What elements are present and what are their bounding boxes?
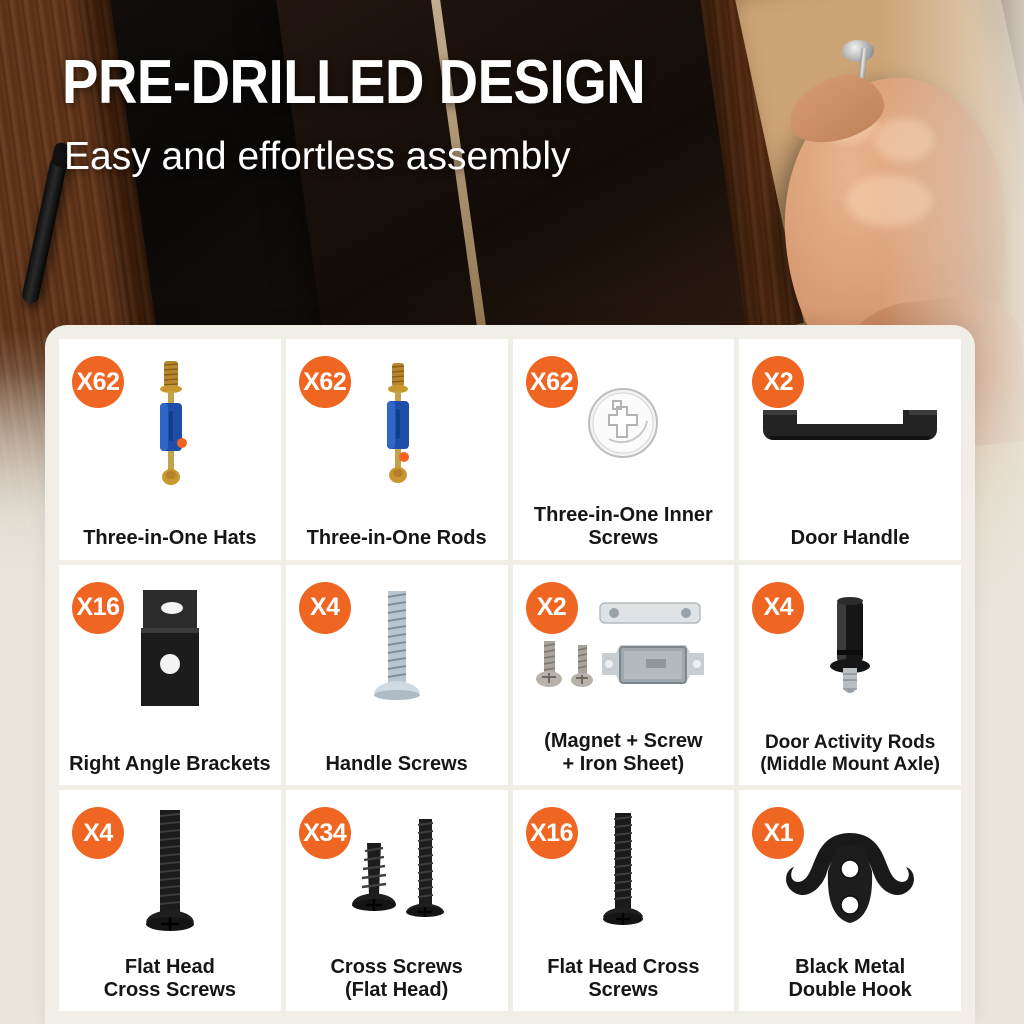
magnet-body <box>602 645 704 683</box>
part-cell[interactable]: X62 Three-in-One Inner Screws <box>513 339 735 560</box>
part-cell[interactable]: X4 <box>286 565 508 786</box>
parts-list-card: X62 <box>45 325 975 1024</box>
part-label: Flat Head Cross Screws <box>513 956 735 1011</box>
part-label: Three-in-One Rods <box>286 527 508 559</box>
quantity-badge: X4 <box>72 807 124 859</box>
part-cell[interactable]: X62 <box>59 339 281 560</box>
part-label: Cross Screws (Flat Head) <box>286 956 508 1011</box>
part-cell[interactable]: X16 Right Angle Brackets <box>59 565 281 786</box>
quantity-badge: X16 <box>526 807 578 859</box>
part-cell[interactable]: X2 <box>513 565 735 786</box>
part-label: Black Metal Double Hook <box>739 956 961 1011</box>
part-cell[interactable]: X34 <box>286 790 508 1011</box>
quantity-badge: X34 <box>299 807 351 859</box>
quantity-badge: X2 <box>752 356 804 408</box>
part-label: Door Handle <box>739 527 961 559</box>
quantity-badge: X62 <box>526 356 578 408</box>
part-cell[interactable]: X16 <box>513 790 735 1011</box>
part-label: Three-in-One Inner Screws <box>513 504 735 559</box>
part-label: Flat Head Cross Screws <box>59 956 281 1011</box>
parts-grid: X62 <box>59 339 961 1011</box>
page-subtitle: Easy and effortless assembly <box>64 137 571 176</box>
part-cell[interactable]: X4 <box>59 790 281 1011</box>
part-label: (Magnet + Screw + Iron Sheet) <box>513 730 735 785</box>
long-screw <box>406 819 444 917</box>
part-cell[interactable]: X62 <box>286 339 508 560</box>
iron-sheet <box>600 603 700 623</box>
quantity-badge: X62 <box>72 356 124 408</box>
part-label: Three-in-One Hats <box>59 527 281 559</box>
magnet-screws <box>536 641 593 687</box>
infographic-page: PRE-DRILLED DESIGN Easy and effortless a… <box>0 0 1024 1024</box>
quantity-badge: X4 <box>752 582 804 634</box>
part-label: Handle Screws <box>286 753 508 785</box>
quantity-badge: X4 <box>299 582 351 634</box>
part-label: Right Angle Brackets <box>59 753 281 785</box>
short-screw <box>352 843 396 911</box>
quantity-badge: X62 <box>299 356 351 408</box>
part-label: Door Activity Rods (Middle Mount Axle) <box>739 732 961 785</box>
page-title: PRE-DRILLED DESIGN <box>62 52 645 114</box>
part-cell[interactable]: X1 Black Metal Double Hook <box>739 790 961 1011</box>
quantity-badge: X2 <box>526 582 578 634</box>
part-cell[interactable]: X2 Door Handle <box>739 339 961 560</box>
part-cell[interactable]: X4 Door Activity Rod <box>739 565 961 786</box>
quantity-badge: X16 <box>72 582 124 634</box>
